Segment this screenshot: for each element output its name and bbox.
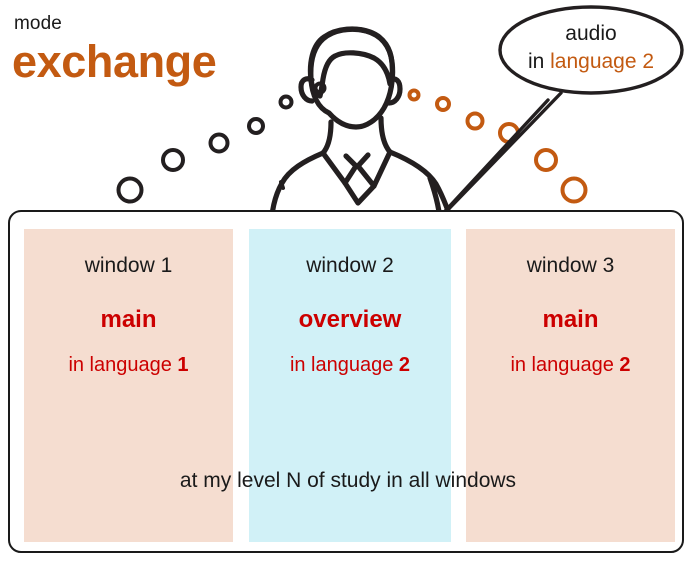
window-2-title: window 2	[249, 255, 451, 276]
speech-bubble-text: audio in language 2	[500, 20, 682, 76]
window-2-language: in language 2	[249, 355, 451, 375]
bubble-dot-black-4	[249, 119, 263, 133]
orange-bubble-dots	[410, 91, 586, 202]
bubble-dot-orange-1	[410, 91, 419, 100]
window-3-title: window 3	[466, 255, 675, 276]
window-column-2[interactable]: window 2 overview in language 2	[249, 229, 451, 542]
speech-bubble-line-1: audio	[500, 20, 682, 48]
mode-label: mode	[14, 14, 62, 33]
window-1-language-number: 1	[177, 354, 188, 376]
mode-name-title: exchange	[12, 39, 216, 84]
bubble-dot-orange-4	[500, 124, 518, 142]
window-3-language: in language 2	[466, 355, 675, 375]
window-2-language-prefix: in language	[290, 354, 399, 376]
windows-panel: window 1 main in language 1 window 2 ove…	[8, 210, 684, 553]
window-3-language-prefix: in language	[510, 354, 619, 376]
window-3-mode: main	[466, 308, 675, 332]
panel-footnote: at my level N of study in all windows	[10, 470, 686, 491]
window-1-title: window 1	[24, 255, 233, 276]
window-1-mode: main	[24, 308, 233, 332]
bubble-dot-orange-5	[536, 150, 556, 170]
bubble-dot-black-3	[211, 135, 228, 152]
window-column-3[interactable]: window 3 main in language 2	[466, 229, 675, 542]
bubble-dot-black-6	[316, 84, 325, 93]
window-column-1[interactable]: window 1 main in language 1	[24, 229, 233, 542]
window-2-mode: overview	[249, 308, 451, 332]
speech-bubble-line-2-highlight: language 2	[550, 50, 654, 73]
window-column-3-content: window 3 main in language 2	[466, 255, 675, 375]
bubble-dot-orange-6	[563, 179, 586, 202]
speech-bubble-line-2: in language 2	[500, 48, 682, 76]
diagram-canvas: mode exchange	[0, 0, 694, 564]
window-1-language: in language 1	[24, 355, 233, 375]
window-2-language-number: 2	[399, 354, 410, 376]
window-1-language-prefix: in language	[68, 354, 177, 376]
window-column-2-content: window 2 overview in language 2	[249, 255, 451, 375]
bubble-dot-black-5	[281, 97, 292, 108]
speech-bubble-line-2-prefix: in	[528, 50, 550, 73]
black-bubble-dots	[119, 84, 325, 202]
window-column-1-content: window 1 main in language 1	[24, 255, 233, 375]
window-3-language-number: 2	[619, 354, 630, 376]
bubble-dot-black-2	[163, 150, 183, 170]
bubble-dot-orange-2	[437, 98, 449, 110]
bubble-dot-orange-3	[468, 114, 483, 129]
bubble-dot-black-1	[119, 179, 142, 202]
